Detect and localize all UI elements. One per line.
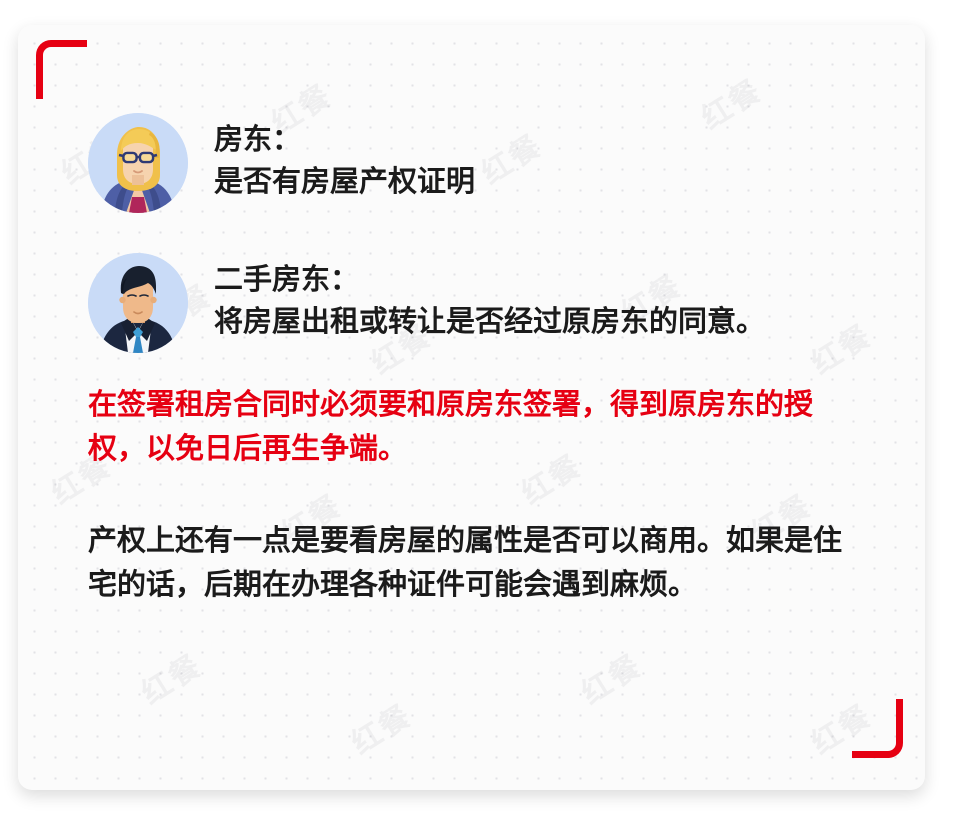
speaker-line: 将房屋出租或转让是否经过原房东的同意。 (214, 301, 765, 343)
highlighted-paragraph: 在签署租房合同时必须要和原房东签署，得到原房东的授权，以免日后再生争端。 (88, 383, 858, 471)
speaker-line: 是否有房屋产权证明 (214, 161, 475, 203)
speech-text-sublandlord: 二手房东： 将房屋出租或转让是否经过原房东的同意。 (214, 253, 765, 343)
man-suit-tie-avatar (88, 253, 188, 353)
note-paragraph: 产权上还有一点是要看房屋的属性是否可以商用。如果是住宅的话，后期在办理各种证件可… (88, 519, 858, 607)
screenshot-stage: 红餐 红餐 红餐 红餐 红餐 红餐 红餐 红餐 红餐 红餐 红餐 红餐 红餐 红… (0, 0, 960, 823)
speaker-row-landlord: 房东： 是否有房屋产权证明 (88, 113, 891, 213)
content-card: 红餐 红餐 红餐 红餐 红餐 红餐 红餐 红餐 红餐 红餐 红餐 红餐 红餐 红… (18, 25, 925, 790)
speaker-name: 房东： (214, 119, 475, 161)
card-content: 房东： 是否有房屋产权证明 (18, 25, 925, 790)
speech-text-landlord: 房东： 是否有房屋产权证明 (214, 113, 475, 203)
speaker-name: 二手房东： (214, 259, 765, 301)
woman-blonde-glasses-avatar (88, 113, 188, 213)
speaker-row-sublandlord: 二手房东： 将房屋出租或转让是否经过原房东的同意。 (88, 253, 891, 353)
